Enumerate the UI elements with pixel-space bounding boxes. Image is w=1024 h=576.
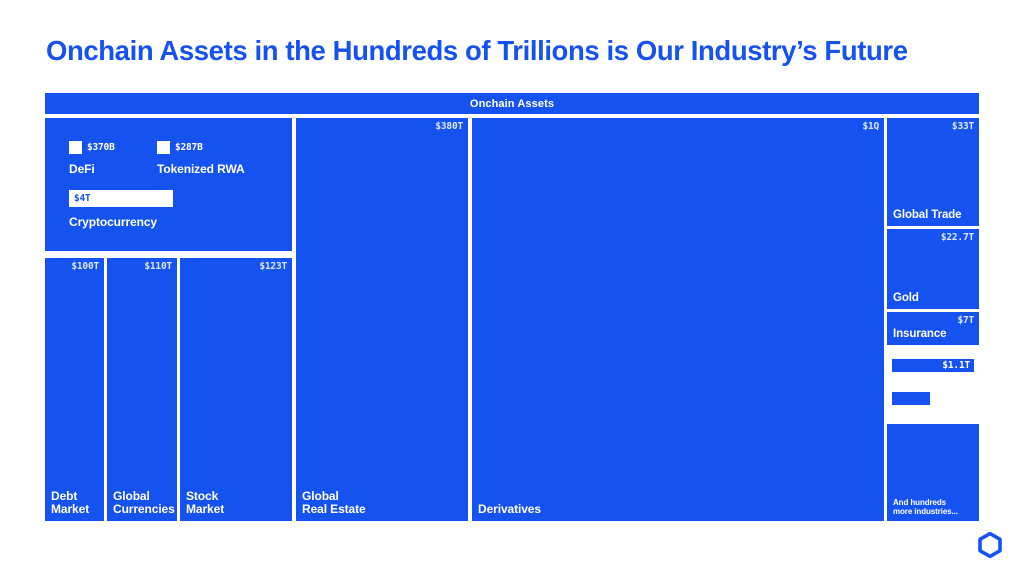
- treemap-root-header: Onchain Assets: [44, 92, 980, 115]
- slide-root: Onchain Assets in the Hundreds of Trilli…: [0, 0, 1024, 576]
- more-industries-label: And hundreds more industries...: [893, 498, 958, 516]
- treemap-group-onchain-today: $370B DeFi $287B Tokenized RWA $4T Crypt…: [44, 117, 293, 252]
- cryptocurrency-label: Cryptocurrency: [69, 215, 173, 229]
- stock-market-value: $123T: [259, 261, 287, 272]
- treemap-node-cryptocurrency[interactable]: $4T Cryptocurrency: [69, 190, 173, 229]
- treemap-node-stock-market[interactable]: $123T Stock Market: [179, 257, 293, 522]
- defi-value: $370B: [87, 142, 115, 153]
- treemap-node-global-trade[interactable]: $33T Global Trade: [886, 117, 980, 227]
- treemap-node-tokenized-rwa[interactable]: $287B Tokenized RWA: [157, 140, 245, 176]
- gaming-label: Gaming: [888, 410, 919, 420]
- tokenized-rwa-value: $287B: [175, 142, 203, 153]
- global-currencies-label: Global Currencies: [113, 490, 175, 516]
- treemap-node-gold[interactable]: $22.7T Gold: [886, 228, 980, 310]
- treemap-node-more-industries[interactable]: And hundreds more industries...: [886, 423, 980, 522]
- treemap-node-global-real-estate[interactable]: $380T Global Real Estate: [295, 117, 469, 522]
- global-real-estate-value: $380T: [435, 121, 463, 132]
- treemap-node-derivatives[interactable]: $1Q Derivatives: [471, 117, 885, 522]
- treemap-node-insurance[interactable]: $7T Insurance: [886, 311, 980, 346]
- stock-market-label: Stock Market: [186, 490, 224, 516]
- gold-label: Gold: [893, 292, 919, 304]
- treemap-node-gaming[interactable]: [891, 391, 931, 406]
- insurance-label: Insurance: [893, 328, 946, 340]
- treemap-root-header-label: Onchain Assets: [470, 98, 554, 110]
- treemap-node-global-currencies[interactable]: $110T Global Currencies: [106, 257, 178, 522]
- cryptocurrency-value: $4T: [74, 193, 91, 204]
- gaming-value: $400B: [937, 393, 965, 404]
- chainlink-hexagon-logo: [978, 532, 1002, 558]
- defi-label: DeFi: [69, 162, 115, 176]
- insurance-value: $7T: [957, 315, 974, 326]
- global-real-estate-label: Global Real Estate: [302, 490, 366, 516]
- tokenized-rwa-label: Tokenized RWA: [157, 162, 245, 176]
- defi-swatch-icon: [69, 141, 82, 154]
- gold-value: $22.7T: [941, 232, 974, 243]
- treemap-node-debt-market[interactable]: $100T Debt Market: [44, 257, 105, 522]
- treemap-node-global-advertising[interactable]: $1.1T: [891, 358, 975, 373]
- global-advertising-label: Global Advertising: [888, 376, 961, 386]
- global-trade-value: $33T: [952, 121, 974, 132]
- debt-market-label: Debt Market: [51, 490, 89, 516]
- cryptocurrency-bar: $4T: [69, 190, 173, 207]
- global-trade-label: Global Trade: [893, 209, 961, 221]
- page-title: Onchain Assets in the Hundreds of Trilli…: [46, 34, 986, 67]
- global-advertising-value: $1.1T: [942, 360, 970, 371]
- debt-market-value: $100T: [71, 261, 99, 272]
- global-currencies-value: $110T: [144, 261, 172, 272]
- treemap-chart: Onchain Assets $370B DeFi $287B Tokenize…: [44, 92, 980, 522]
- derivatives-label: Derivatives: [478, 503, 541, 516]
- treemap-node-defi[interactable]: $370B DeFi: [69, 140, 115, 176]
- tokenized-rwa-swatch-icon: [157, 141, 170, 154]
- derivatives-value: $1Q: [862, 121, 879, 132]
